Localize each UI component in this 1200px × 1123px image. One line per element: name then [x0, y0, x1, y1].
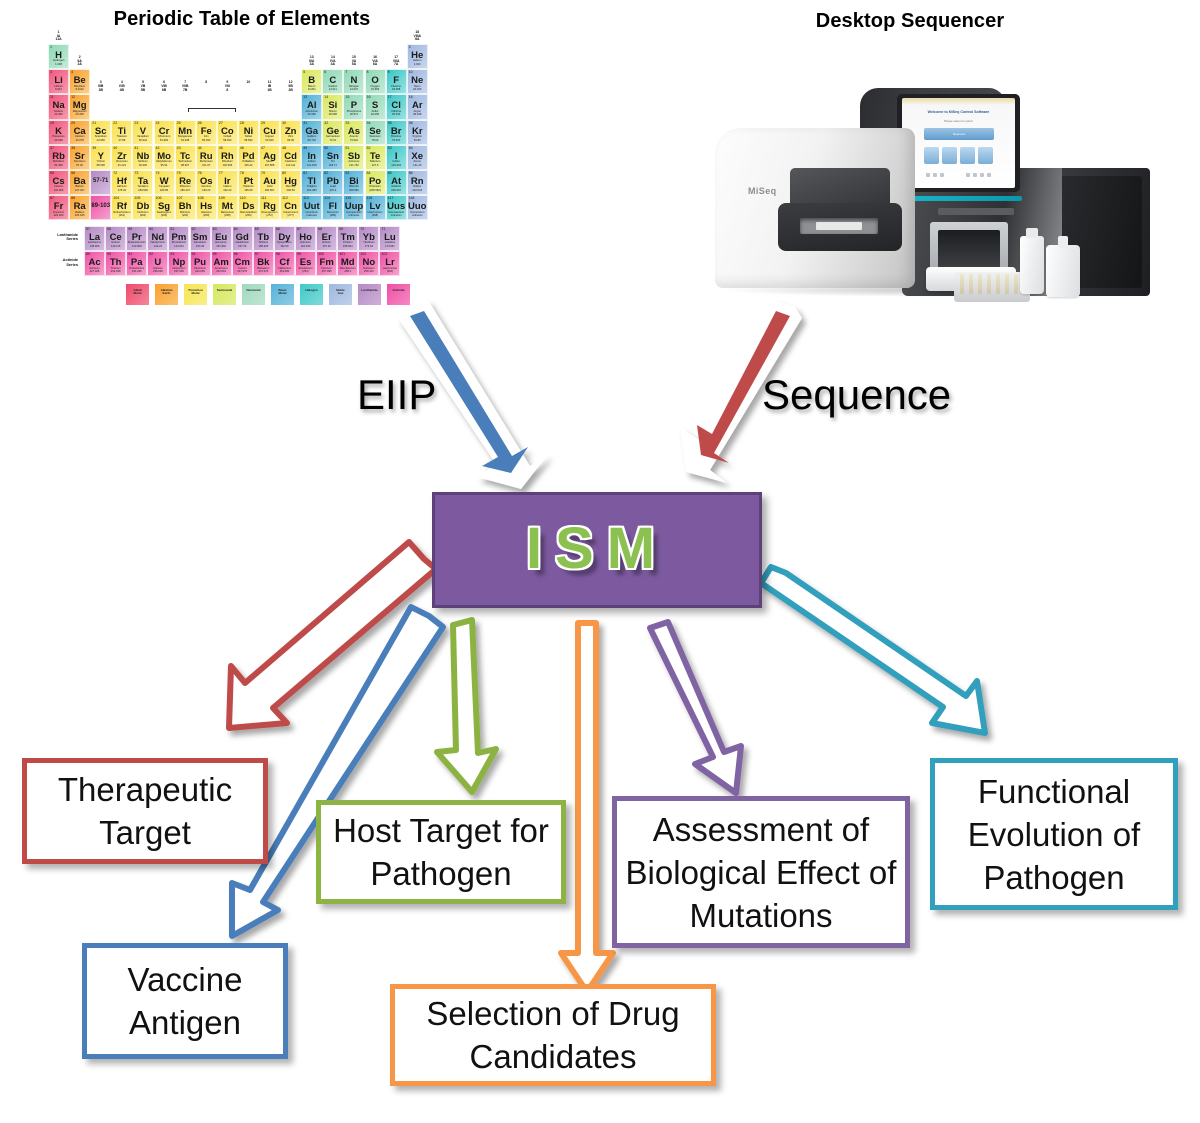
- arrow-assessment-mutations: [650, 622, 741, 793]
- outcome-box-functional-evolution[interactable]: Functional Evolution of Pathogen: [930, 758, 1178, 910]
- outcome-label-functional-evolution: Functional Evolution of Pathogen: [935, 770, 1173, 899]
- outcome-label-host-target: Host Target for Pathogen: [321, 809, 561, 895]
- outcome-box-therapeutic-target[interactable]: Therapeutic Target: [22, 758, 268, 864]
- ism-hub-label: ISM: [435, 515, 759, 582]
- outcome-label-therapeutic-target: Therapeutic Target: [27, 768, 263, 854]
- label-eiip: EIIP: [357, 371, 436, 419]
- outcome-label-vaccine-antigen: Vaccine Antigen: [87, 958, 283, 1044]
- arrow-drug-candidates: [561, 623, 613, 992]
- arrow-host-target: [437, 620, 496, 792]
- outcome-box-assessment-mutations[interactable]: Assessment of Biological Effect of Mutat…: [612, 796, 910, 948]
- outcome-label-drug-candidates: Selection of Drug Candidates: [395, 992, 711, 1078]
- arrow-functional-evolution: [761, 567, 985, 733]
- outcome-box-drug-candidates[interactable]: Selection of Drug Candidates: [390, 984, 716, 1086]
- outcome-label-assessment-mutations: Assessment of Biological Effect of Mutat…: [617, 808, 905, 937]
- outcome-box-host-target[interactable]: Host Target for Pathogen: [316, 800, 566, 904]
- outcome-box-vaccine-antigen[interactable]: Vaccine Antigen: [82, 943, 288, 1059]
- label-sequence: Sequence: [762, 371, 951, 419]
- diagram-canvas: Periodic Table of Elements Desktop Seque…: [0, 0, 1200, 1123]
- ism-hub-box[interactable]: ISM: [432, 492, 762, 608]
